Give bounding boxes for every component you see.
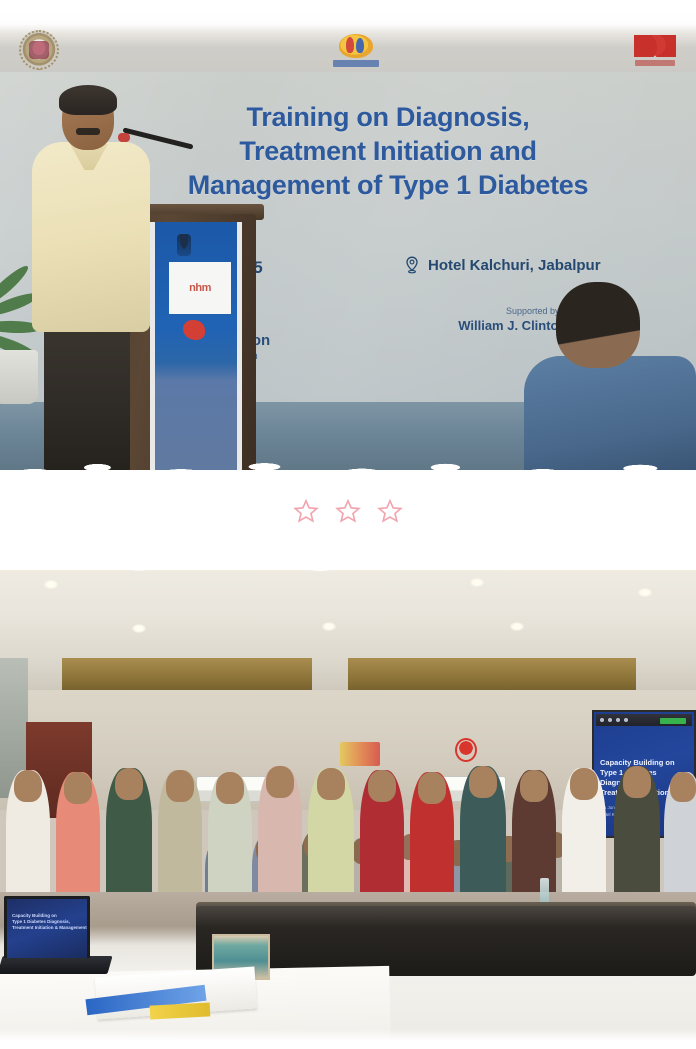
laptop-line-3: Treatment Initiation & Management [12,925,87,931]
national-health-mission-logo-icon [330,26,382,74]
banner-title-line-2: Treatment Initiation and [128,134,648,168]
group-photograph: Capacity Building on Type 1 Diabetes Dia… [0,562,696,1049]
event-photo-collage: Training on Diagnosis, Treatment Initiat… [0,0,696,1049]
downlight-icon [322,622,336,631]
location-pin-icon [404,256,420,274]
star-icon [335,498,361,524]
divider-stars [0,498,696,524]
laptop-screen-text: Capacity Building on Type 1 Diabetes Dia… [12,913,87,931]
banner-logo-strip [0,24,696,76]
downlight-icon [638,588,652,597]
downlight-icon [510,622,524,631]
laptop-screen: Capacity Building on Type 1 Diabetes Dia… [4,896,90,958]
government-of-india-logo-icon [628,28,682,72]
banner-title: Training on Diagnosis, Treatment Initiat… [128,100,648,202]
banner-title-line-1: Training on Diagnosis, [128,100,648,134]
water-bottle [540,878,549,904]
seated-attendee [520,282,696,478]
banner-venue: Hotel Kalchuri, Jabalpur [404,256,601,274]
wooden-bench [196,906,696,976]
podium-logo-text: nhm [189,282,211,294]
star-icon [377,498,403,524]
speaker-at-podium [26,88,156,478]
madhya-pradesh-government-seal-icon [12,28,66,72]
star-icon [293,498,319,524]
podium-red-mark-icon [183,320,205,340]
downlight-icon [470,578,484,587]
screen-toolbar [596,714,692,726]
podium-branding-panel: nhm [150,222,242,478]
inaugural-address-photo: Training on Diagnosis, Treatment Initiat… [0,0,696,478]
downlight-icon [44,580,58,589]
national-emblem-icon [177,234,191,256]
downlight-icon [132,624,146,633]
star-divider [0,470,696,570]
microphone-icon [118,133,130,142]
podium-logo-plate: nhm [169,262,231,314]
banner-title-line-3: Management of Type 1 Diabetes [128,168,648,202]
laptop-keyboard[interactable] [0,956,113,974]
banner-venue-text: Hotel Kalchuri, Jabalpur [428,257,601,274]
